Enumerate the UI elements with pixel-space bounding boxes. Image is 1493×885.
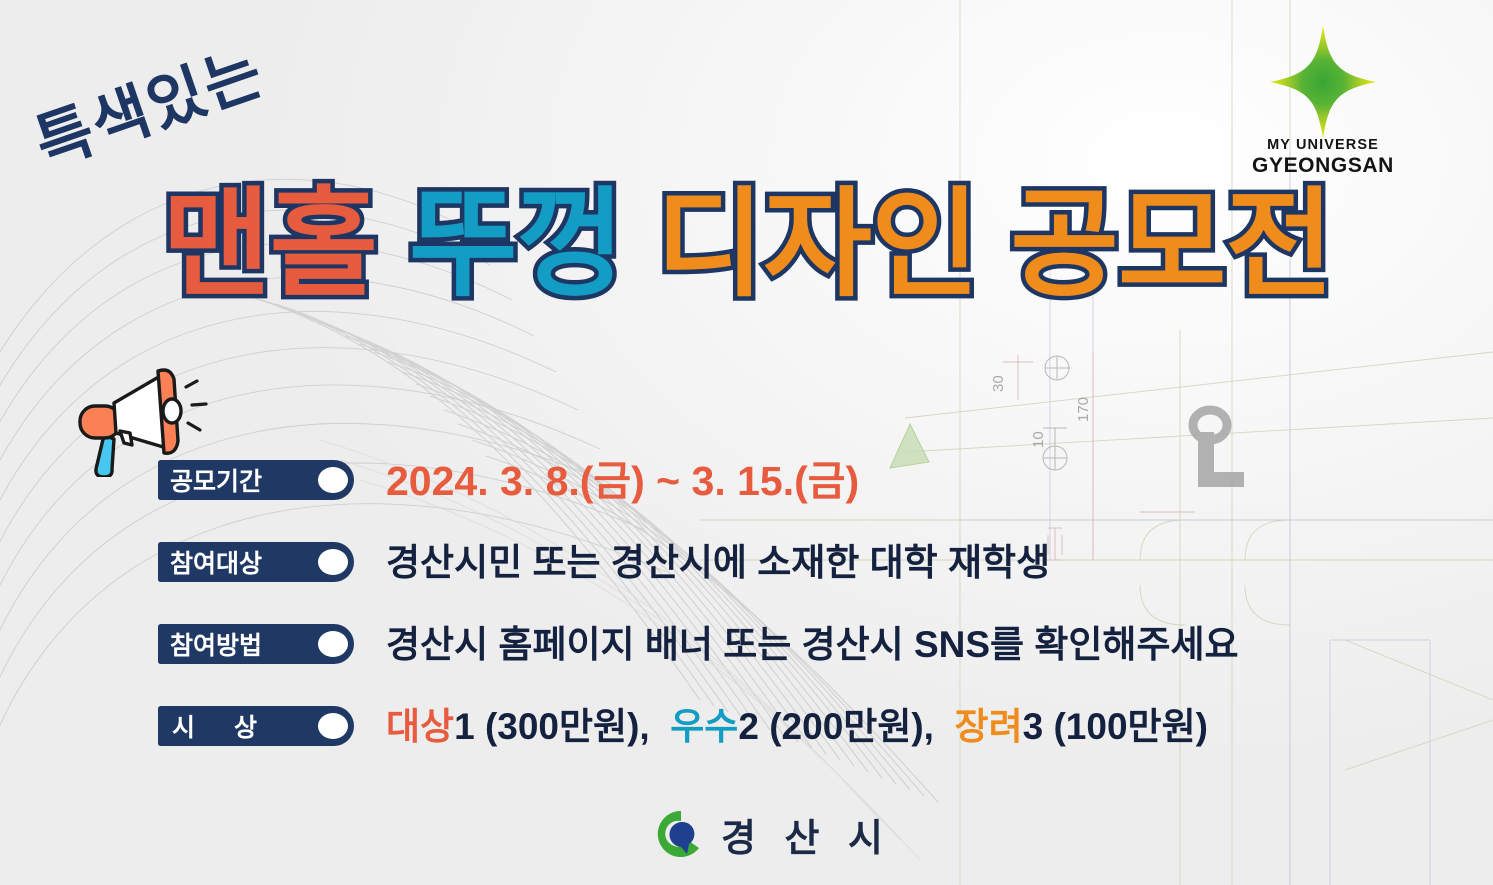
prize-amount-excellence: (200만원), — [769, 706, 934, 747]
title-part-manhole: 맨홀 — [162, 186, 377, 304]
info-row-howto: 참여방법 경산시 홈페이지 배너 또는 경산시 SNS를 확인해주세요 — [158, 616, 1458, 698]
info-row-period: 공모기간 2024. 3. 8.(금) ~ 3. 15.(금) — [158, 452, 1458, 534]
label-pill-prizes: 시 상 — [158, 706, 354, 746]
title-part-contest: 디자인 공모전 — [656, 186, 1333, 304]
prize-count-excellence: 2 — [738, 706, 759, 747]
brand-line-1: MY UNIVERSE — [1228, 138, 1418, 154]
prize-count-encouragement: 3 — [1023, 706, 1044, 747]
value-howto: 경산시 홈페이지 배너 또는 경산시 SNS를 확인해주세요 — [386, 616, 1239, 674]
blueprint-dim-30: 30 — [990, 375, 1007, 392]
label-eligibility: 참여대상 — [170, 544, 308, 580]
info-row-prizes: 시 상 대상1 (300만원), 우수2 (200만원), 장려3 (100만원… — [158, 698, 1458, 780]
poster-root: 30 170 10 — [0, 0, 1493, 885]
kicker-text: 특색있는 — [21, 22, 274, 184]
pill-dot-icon — [318, 467, 348, 493]
label-period: 공모기간 — [170, 462, 308, 498]
info-list: 공모기간 2024. 3. 8.(금) ~ 3. 15.(금) 참여대상 경산시… — [158, 452, 1458, 780]
info-row-eligibility: 참여대상 경산시민 또는 경산시에 소재한 대학 재학생 — [158, 534, 1458, 616]
four-point-star-logo — [1228, 22, 1418, 142]
title-part-cover: 뚜껑 — [409, 186, 624, 304]
value-eligibility: 경산시민 또는 경산시에 소재한 대학 재학생 — [386, 534, 1050, 592]
label-pill-howto: 참여방법 — [158, 624, 354, 664]
prize-amount-encouragement: (100만원) — [1053, 706, 1207, 747]
prize-rank-grand: 대상 — [386, 706, 454, 747]
city-name: 경 산 시 — [721, 807, 892, 862]
label-prizes: 시 상 — [170, 708, 308, 744]
label-pill-eligibility: 참여대상 — [158, 542, 354, 582]
prize-rank-excellence: 우수 — [670, 706, 738, 747]
brand-logo: MY UNIVERSE GYEONGSAN — [1228, 22, 1418, 197]
label-pill-period: 공모기간 — [158, 460, 354, 500]
gyeongsan-city-logo-icon — [655, 808, 707, 860]
value-prizes: 대상1 (300만원), 우수2 (200만원), 장려3 (100만원) — [386, 698, 1208, 756]
pill-dot-icon — [318, 549, 348, 575]
page-title: 맨홀 뚜껑 디자인 공모전 — [162, 186, 1333, 304]
prize-count-grand: 1 — [454, 706, 475, 747]
prize-rank-encouragement: 장려 — [955, 706, 1023, 747]
blueprint-dim-170: 170 — [1075, 397, 1092, 422]
city-logo: 경 산 시 — [655, 806, 892, 862]
blueprint-dim-10: 10 — [1030, 431, 1047, 448]
brand-line-2: GYEONGSAN — [1228, 154, 1418, 178]
pill-dot-icon — [318, 713, 348, 739]
prize-amount-grand: (300만원), — [485, 706, 650, 747]
pill-dot-icon — [318, 631, 348, 657]
label-howto: 참여방법 — [170, 626, 308, 662]
value-period: 2024. 3. 8.(금) ~ 3. 15.(금) — [386, 452, 859, 510]
